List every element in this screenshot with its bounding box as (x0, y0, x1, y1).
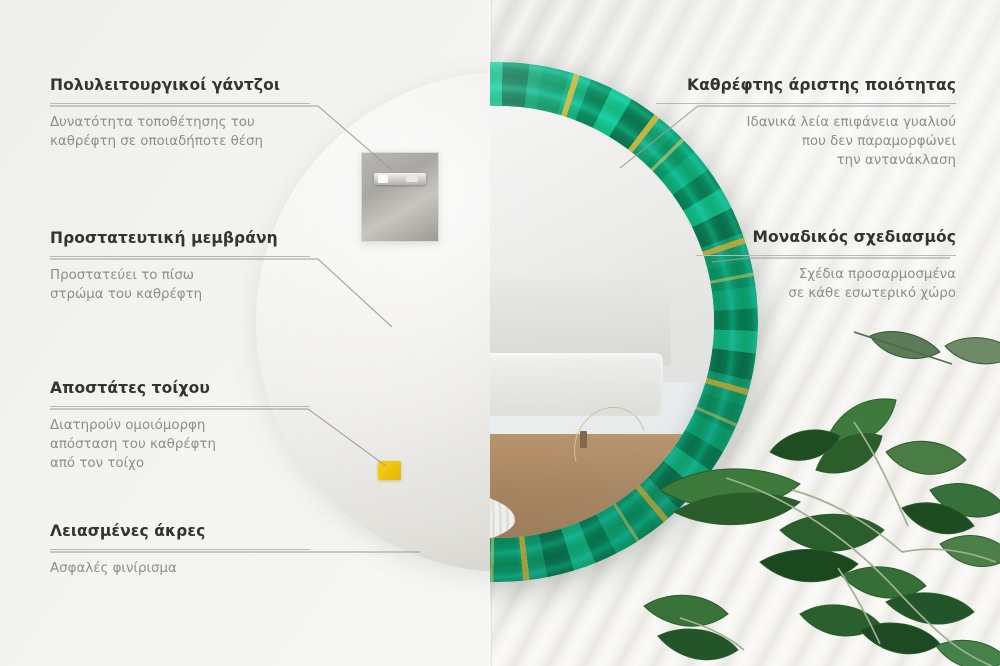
sofa-seat-cushion (490, 353, 663, 415)
callout-rule (50, 549, 310, 550)
callout-body: Δυνατότητα τοποθέτησης του καθρέφτη σε ο… (50, 113, 310, 151)
callout-title: Λειασμένες άκρες (50, 522, 310, 540)
callout-smoothed-edges: Λειασμένες άκρες Ασφαλές φινίρισμα (50, 522, 310, 578)
callout-body: Ιδανικά λεία επιφάνεια γυαλιού που δεν π… (656, 113, 956, 170)
hook-plate (361, 152, 439, 242)
callout-body: Ασφαλές φινίρισμα (50, 559, 310, 578)
callout-unique-design: Μοναδικός σχεδιασμός Σχέδια προσαρμοσμέν… (696, 228, 956, 303)
callout-protective-membrane: Προστατευτική μεμβράνη Προστατεύει το πί… (50, 229, 310, 304)
callout-title: Καθρέφτης άριστης ποιότητας (656, 76, 956, 94)
callout-multifunctional-hooks: Πολυλειτουργικοί γάντζοι Δυνατότητα τοπο… (50, 76, 310, 151)
callout-title: Πολυλειτουργικοί γάντζοι (50, 76, 310, 94)
callout-body: Διατηρούν ομοιόμορφη απόσταση του καθρέφ… (50, 416, 310, 473)
callout-rule (696, 255, 956, 256)
callout-body: Σχέδια προσαρμοσμένα σε κάθε εσωτερικό χ… (696, 265, 956, 303)
callout-rule (656, 103, 956, 104)
callout-title: Μοναδικός σχεδιασμός (696, 228, 956, 246)
callout-top-quality-mirror: Καθρέφτης άριστης ποιότητας Ιδανικά λεία… (656, 76, 956, 170)
callout-rule (50, 256, 310, 257)
hook-notch-right (406, 175, 418, 182)
callout-title: Αποστάτες τοίχου (50, 379, 310, 397)
hook-notch-left (378, 175, 388, 183)
callout-title: Προστατευτική μεμβράνη (50, 229, 310, 247)
foliage-decoration (640, 330, 1000, 666)
callout-rule (50, 103, 310, 104)
yellow-spacer (378, 461, 401, 480)
callout-rule (50, 406, 310, 407)
callout-wall-spacers: Αποστάτες τοίχου Διατηρούν ομοιόμορφη απ… (50, 379, 310, 473)
callout-body: Προστατεύει το πίσω στρώμα του καθρέφτη (50, 266, 310, 304)
infographic-canvas: Πολυλειτουργικοί γάντζοι Δυνατότητα τοπο… (0, 0, 1000, 666)
